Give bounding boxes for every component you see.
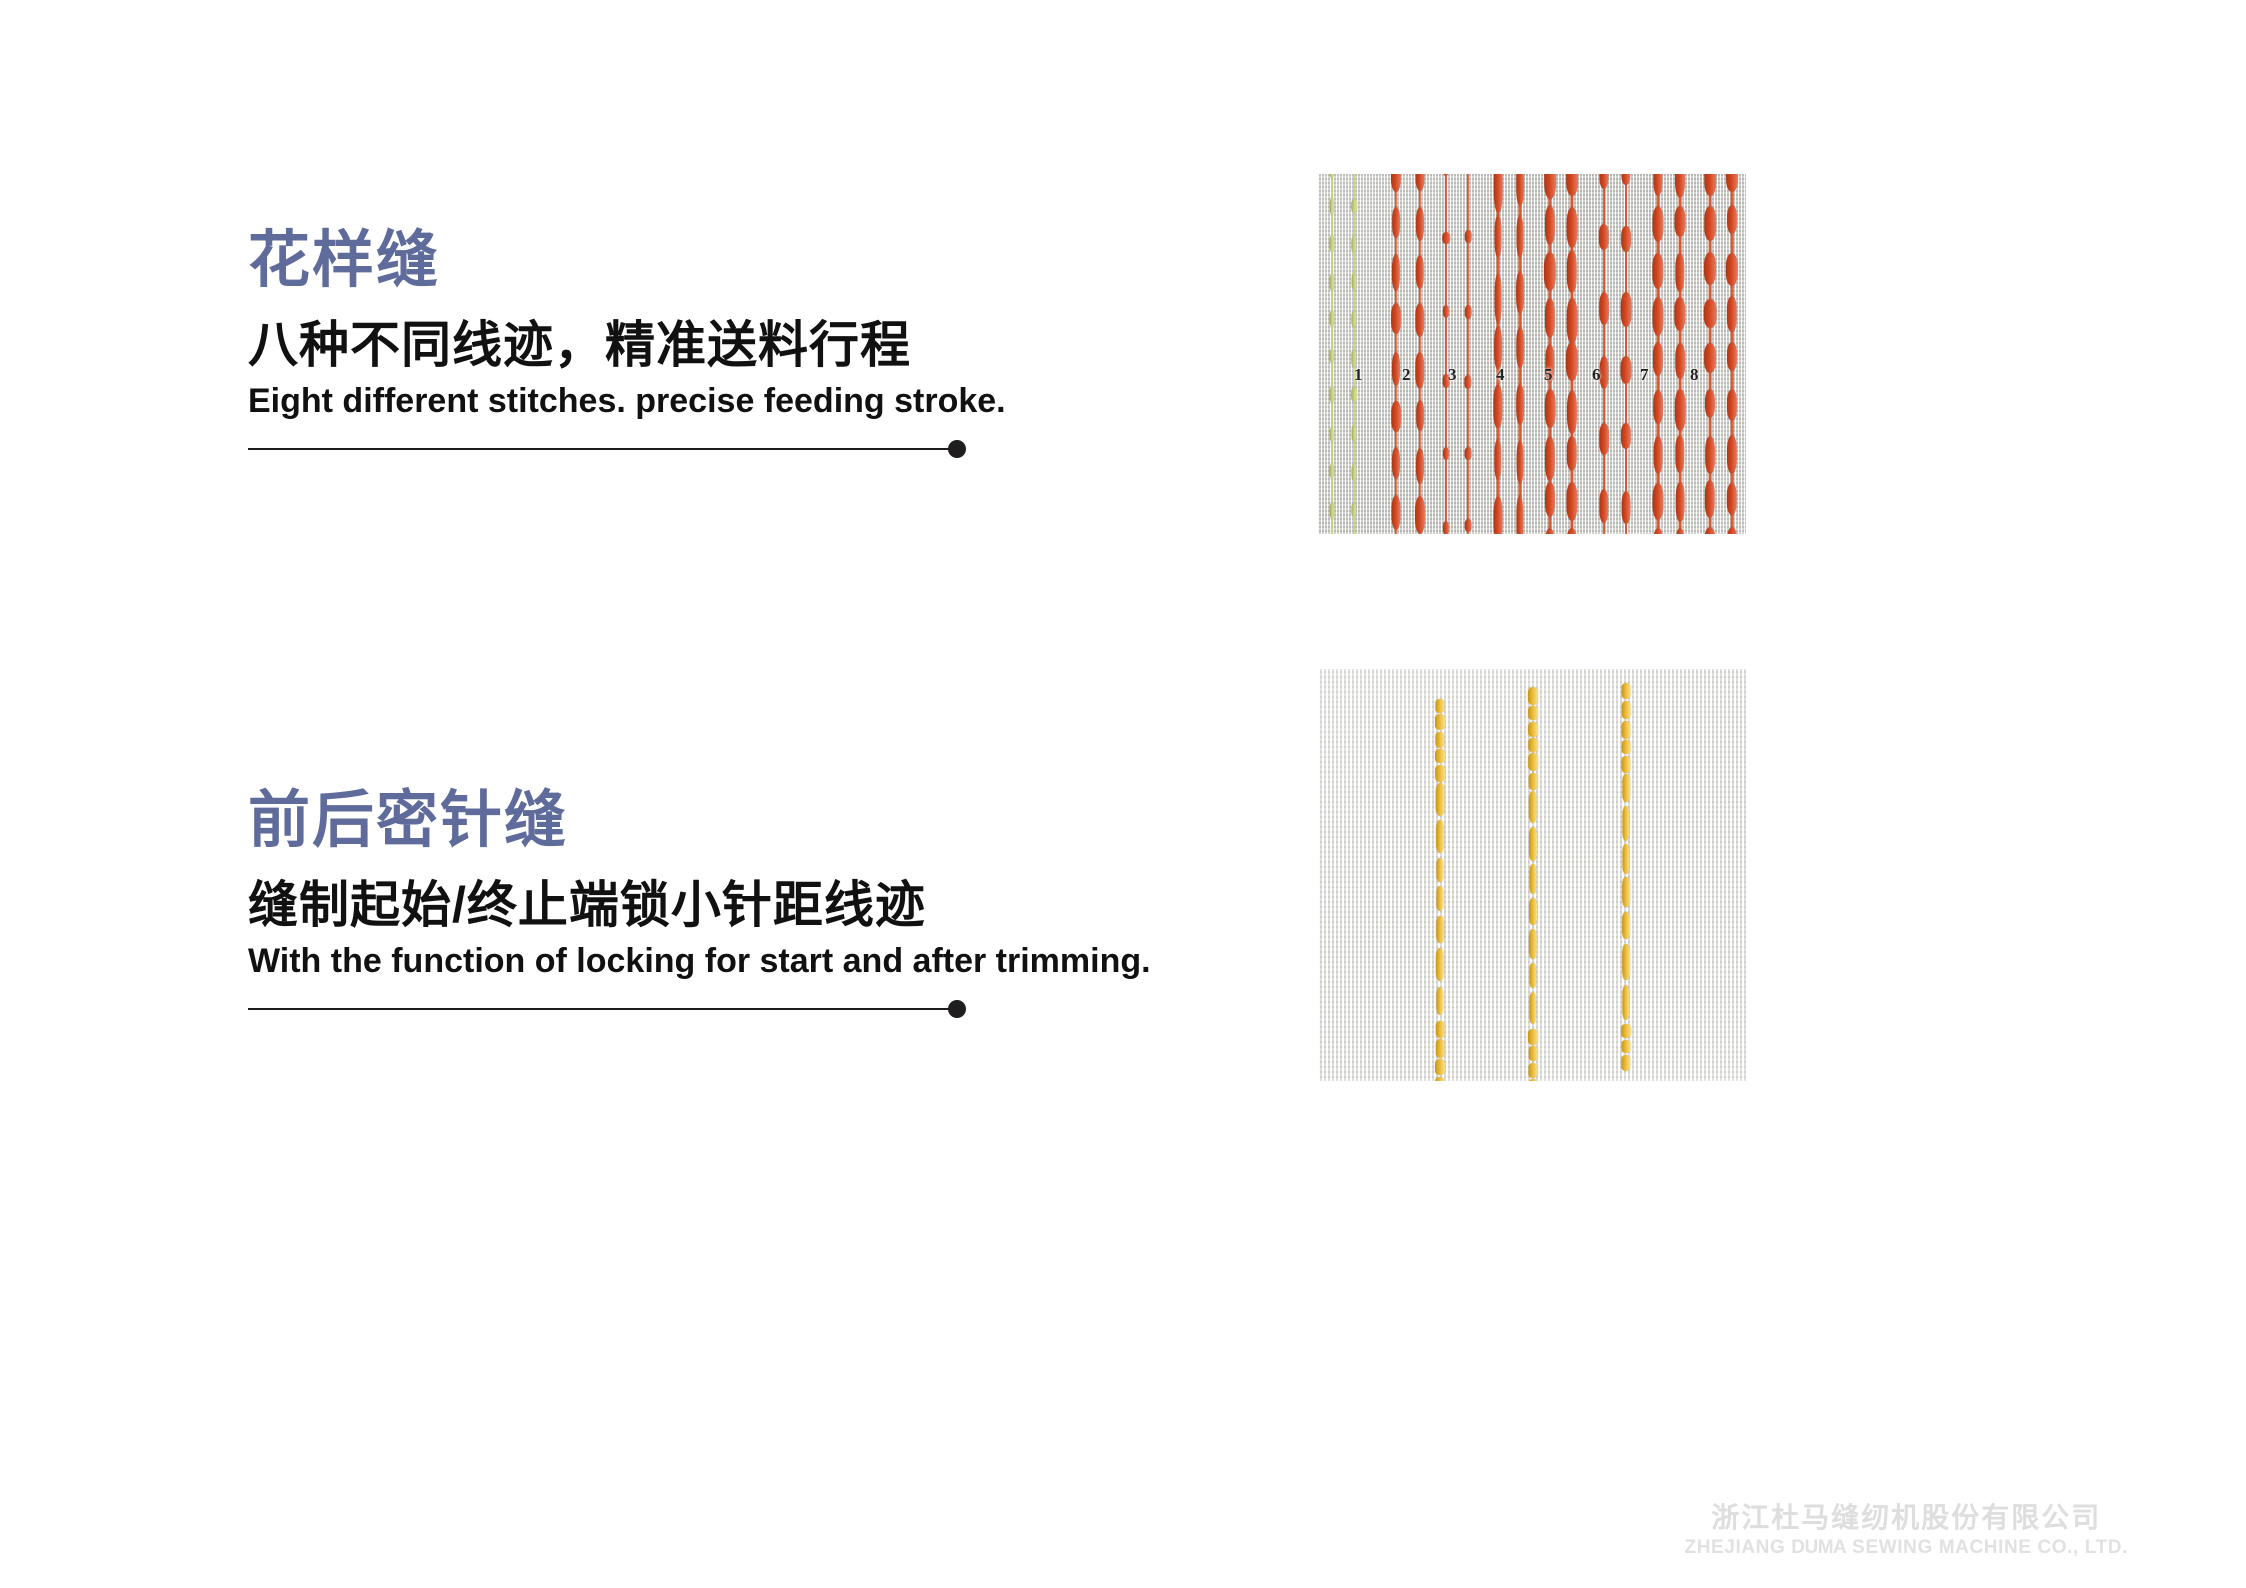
stitch-bead: [1621, 292, 1632, 326]
stitch-bead: [1675, 343, 1685, 379]
stitch-bead: [1599, 489, 1608, 522]
lock-stitch-segment: [1436, 1039, 1445, 1058]
stitch-bead: [1676, 528, 1685, 534]
stitch-bead: [1566, 174, 1578, 196]
stitch-bead: [1653, 390, 1663, 424]
stitch-column: [1494, 174, 1503, 534]
stitch-bead: [1494, 496, 1503, 534]
lock-stitch-segment: [1529, 773, 1538, 790]
lock-stitch-segment: [1435, 714, 1445, 730]
stitch-column: [1464, 174, 1473, 534]
lock-stitch-seam: [1621, 683, 1632, 1061]
stitch-bead: [1654, 436, 1663, 474]
divider-dot-icon: [948, 1000, 966, 1018]
stitch-bead: [1599, 423, 1609, 454]
lock-stitch-segment: [1621, 1024, 1631, 1039]
stitch-bead: [1727, 342, 1737, 371]
lock-stitch-segment: [1621, 1055, 1630, 1071]
stitch-bead: [1622, 491, 1631, 524]
stitch-bead: [1443, 447, 1449, 460]
divider: [248, 439, 966, 459]
pattern-number-1: 1: [1354, 366, 1363, 383]
pattern-number-8: 8: [1690, 366, 1699, 383]
stitch-bead: [1621, 226, 1631, 252]
lock-stitch-segment: [1529, 898, 1537, 925]
watermark-en-suffix: SEWING MACHINE CO., LTD.: [1852, 1537, 2128, 1558]
company-watermark: 浙江杜马缝纫机股份有限公司 ZHEJIANG DUMA SEWING MACHI…: [1685, 1501, 2128, 1560]
stitch-bead: [1704, 252, 1716, 285]
stitch-bead: [1704, 343, 1716, 372]
lock-stitch-segment: [1528, 1079, 1538, 1081]
lock-stitch-segment: [1622, 844, 1629, 874]
stitch-bead: [1351, 311, 1356, 327]
stitch-bead: [1566, 482, 1577, 521]
stitch-column: [1568, 174, 1577, 534]
stitch-bead: [1416, 207, 1424, 240]
stitch-bead: [1599, 292, 1609, 326]
lock-stitch-segment: [1528, 1063, 1537, 1078]
stitch-bead: [1351, 236, 1356, 253]
stitch-bead: [1352, 425, 1357, 441]
stitch-bead: [1330, 502, 1335, 519]
lock-stitch-seam: [1435, 699, 1446, 1077]
stitch-bead: [1392, 495, 1401, 530]
stitch-bead: [1351, 503, 1356, 518]
lock-stitch-segment: [1622, 1040, 1631, 1053]
stitch-bead: [1727, 435, 1737, 474]
stitch-bead: [1352, 273, 1357, 289]
lock-stitch-segment: [1436, 916, 1444, 944]
stitch-bead: [1704, 299, 1717, 328]
pattern-number-5: 5: [1544, 366, 1553, 383]
stitch-bead: [1727, 483, 1737, 515]
stitch-bead: [1652, 206, 1663, 243]
lock-stitch-segment: [1622, 740, 1631, 754]
watermark-en-prefix: ZHEJIANG: [1685, 1537, 1786, 1558]
lock-stitch-segment: [1622, 701, 1631, 719]
lock-stitch-segment: [1622, 683, 1631, 699]
lock-stitch-segment: [1528, 738, 1538, 751]
feature-title: 花样缝: [248, 230, 1248, 292]
lock-stitch-segment: [1622, 912, 1630, 938]
divider-dot-icon: [948, 440, 966, 458]
stitch-column: [1728, 174, 1737, 534]
stitch-bead: [1392, 352, 1400, 386]
stitch-bead: [1599, 224, 1609, 250]
stitch-column: [1392, 174, 1401, 534]
stitch-bead: [1653, 342, 1663, 376]
stitch-bead: [1620, 356, 1631, 384]
feature-subtitle-english: Eight different stitches. precise feedin…: [248, 382, 1248, 421]
stitch-column: [1676, 174, 1685, 534]
stitch-bead: [1704, 174, 1716, 196]
lock-stitch-segment: [1435, 699, 1444, 713]
lock-stitch-segment: [1436, 1021, 1445, 1038]
stitch-bead: [1727, 296, 1737, 331]
stitch-bead: [1516, 174, 1524, 206]
stitch-bead: [1567, 436, 1577, 471]
stitch-bead: [1727, 389, 1737, 421]
stitch-bead: [1653, 174, 1662, 196]
watermark-en-brand: DUMA: [1791, 1537, 1846, 1558]
stitch-bead: [1599, 174, 1608, 189]
lock-stitch-segment: [1529, 963, 1536, 988]
stitch-bead: [1544, 174, 1556, 199]
lock-stitch-segment: [1622, 806, 1629, 840]
stitch-bead: [1416, 255, 1424, 289]
lock-stitch-segment: [1622, 774, 1630, 801]
lock-stitch-segment: [1529, 827, 1537, 861]
stitch-bead: [1653, 297, 1664, 336]
stitch-bead: [1621, 174, 1630, 185]
stitch-bead: [1329, 274, 1334, 290]
stitch-column: [1706, 174, 1715, 534]
stitch-column: [1546, 174, 1555, 534]
stitch-column: [1600, 174, 1609, 534]
stitch-bead: [1330, 386, 1335, 403]
stitch-bead: [1329, 349, 1334, 363]
stitch-bead: [1675, 253, 1684, 292]
divider-line: [248, 448, 950, 450]
stitch-column: [1654, 174, 1663, 534]
stitch-bead: [1495, 273, 1502, 325]
stitch-bead: [1517, 440, 1524, 484]
stitch-bead: [1330, 197, 1334, 215]
stitch-bead: [1653, 528, 1663, 534]
divider: [248, 999, 966, 1019]
lock-stitch-segment: [1528, 722, 1538, 737]
stitch-column: [1516, 174, 1525, 534]
divider-line: [248, 1008, 950, 1010]
stitch-bead: [1391, 174, 1401, 192]
stitch-bead: [1545, 205, 1555, 245]
watermark-company-english: ZHEJIANG DUMA SEWING MACHINE CO., LTD.: [1685, 1536, 2128, 1560]
stitch-column: [1328, 174, 1337, 534]
stitch-bead: [1494, 174, 1503, 213]
stitch-bead: [1621, 423, 1631, 449]
lock-stitch-segment: [1529, 992, 1536, 1024]
lock-stitch-sample-photo: [1318, 669, 1746, 1081]
stitch-bead: [1567, 298, 1578, 344]
stitch-bead: [1545, 298, 1555, 338]
lock-stitch-segment: [1436, 783, 1445, 816]
stitch-bead: [1465, 519, 1472, 532]
stitch-bead: [1464, 375, 1471, 389]
stitch-bead: [1351, 387, 1357, 402]
lock-stitch-segment: [1435, 749, 1445, 763]
stitch-bead: [1330, 427, 1334, 442]
stitch-bead: [1652, 253, 1663, 289]
stitch-column: [1350, 174, 1359, 534]
stitch-bead: [1494, 439, 1501, 480]
feature-block-lock-stitch: 前后密针缝 缝制起始/终止端锁小针距线迹 With the function o…: [248, 790, 1248, 1019]
stitch-bead: [1494, 326, 1502, 369]
lock-stitch-segment: [1622, 985, 1629, 1020]
lock-stitch-segment: [1436, 948, 1444, 981]
stitch-bead: [1516, 495, 1523, 534]
feature-subtitle-chinese: 八种不同线迹，精准送料行程: [248, 318, 1248, 372]
lock-stitch-segment: [1436, 987, 1443, 1015]
stitch-bead: [1330, 235, 1335, 252]
stitch-bead: [1705, 480, 1715, 518]
lock-stitch-segment: [1621, 721, 1630, 739]
stitch-bead: [1705, 389, 1715, 418]
pattern-number-2: 2: [1402, 366, 1411, 383]
stitch-bead: [1516, 384, 1524, 425]
stitch-bead: [1544, 252, 1556, 291]
feature-subtitle-english: With the function of locking for start a…: [248, 942, 1248, 981]
stitch-bead: [1415, 303, 1424, 338]
lock-stitch-segment: [1435, 765, 1445, 782]
stitch-bead: [1465, 447, 1472, 459]
lock-stitch-seam: [1528, 687, 1539, 1081]
stitch-bead: [1493, 384, 1502, 429]
lock-stitch-segment: [1528, 687, 1538, 705]
stitch-bead: [1443, 174, 1449, 176]
pattern-number-7: 7: [1640, 366, 1649, 383]
stitch-bead: [1704, 527, 1715, 535]
stitch-bead: [1705, 436, 1715, 474]
stitch-bead: [1516, 327, 1524, 368]
stitch-bead: [1567, 207, 1578, 248]
stitch-bead: [1416, 448, 1424, 484]
stitch-bead: [1726, 253, 1738, 286]
lock-stitch-segment: [1435, 1077, 1444, 1082]
lock-stitch-segment: [1436, 886, 1443, 911]
lock-stitch-segment: [1529, 791, 1537, 822]
stitch-bead: [1566, 342, 1578, 381]
stitch-bead: [1726, 174, 1738, 192]
lock-stitch-segment: [1529, 929, 1537, 959]
lock-stitch-segment: [1435, 732, 1444, 748]
stitch-bead: [1517, 215, 1524, 258]
stitch-bead: [1391, 303, 1401, 334]
watermark-company-chinese: 浙江杜马缝纫机股份有限公司: [1685, 1501, 2128, 1535]
lock-stitch-segment: [1622, 877, 1630, 907]
stitch-bead: [1675, 174, 1685, 198]
lock-stitch-segment: [1529, 864, 1536, 894]
stitch-bead: [1416, 174, 1425, 191]
stitch-bead: [1392, 447, 1400, 480]
stitch-bead: [1675, 389, 1686, 430]
stitch-thread-line: [1445, 174, 1447, 534]
stitch-bead: [1416, 400, 1424, 431]
stitch-bead: [1329, 464, 1334, 479]
stitch-bead: [1545, 482, 1555, 517]
pattern-number-4: 4: [1496, 366, 1505, 383]
stitch-thread-line: [1467, 174, 1469, 534]
stitch-bead: [1545, 389, 1556, 428]
stitch-bead: [1329, 174, 1334, 178]
lock-stitch-segment: [1622, 944, 1630, 980]
stitch-bead: [1330, 310, 1335, 327]
stitch-bead: [1391, 401, 1401, 432]
stitch-column: [1622, 174, 1631, 534]
lock-stitch-segment: [1528, 706, 1538, 720]
stitch-bead: [1545, 528, 1555, 534]
feature-block-pattern-sewing: 花样缝 八种不同线迹，精准送料行程 Eight different stitch…: [248, 230, 1248, 459]
stitch-bead: [1727, 205, 1737, 234]
lock-stitch-segment: [1528, 753, 1538, 771]
stitch-bead: [1727, 527, 1738, 534]
stitch-bead: [1545, 436, 1555, 481]
stitch-bead: [1653, 483, 1664, 520]
stitch-pattern-sample-photo: 12345678: [1318, 174, 1746, 534]
lock-stitch-segment: [1529, 1046, 1538, 1061]
stitch-bead: [1566, 528, 1578, 534]
lock-stitch-segment: [1528, 1029, 1538, 1045]
stitch-bead: [1392, 254, 1400, 291]
stitch-bead: [1675, 435, 1684, 473]
stitch-bead: [1676, 482, 1685, 522]
stitch-bead: [1392, 207, 1400, 238]
pattern-number-3: 3: [1448, 366, 1457, 383]
stitch-bead: [1674, 206, 1685, 238]
stitch-column: [1416, 174, 1425, 534]
stitch-bead: [1442, 232, 1450, 244]
lock-stitch-segment: [1436, 820, 1444, 853]
stitch-bead: [1351, 199, 1357, 214]
stitch-bead: [1352, 464, 1357, 480]
feature-subtitle-chinese: 缝制起始/终止端锁小针距线迹: [248, 878, 1248, 932]
stitch-bead: [1465, 230, 1472, 243]
stitch-bead: [1567, 390, 1577, 434]
feature-title: 前后密针缝: [248, 790, 1248, 852]
stitch-bead: [1704, 206, 1716, 241]
pattern-number-6: 6: [1592, 366, 1601, 383]
lock-stitch-segment: [1435, 1059, 1445, 1075]
stitch-bead: [1516, 271, 1524, 315]
stitch-bead: [1567, 250, 1577, 293]
lock-stitch-segment: [1436, 858, 1443, 882]
stitch-column: [1442, 174, 1451, 534]
stitch-bead: [1415, 352, 1424, 389]
stitch-bead: [1495, 215, 1502, 258]
stitch-bead: [1674, 297, 1685, 330]
stitch-bead: [1443, 305, 1449, 318]
stitch-bead: [1465, 305, 1472, 320]
stitch-bead: [1443, 521, 1449, 534]
lock-stitch-segment: [1621, 756, 1630, 773]
stitch-bead: [1415, 496, 1425, 533]
